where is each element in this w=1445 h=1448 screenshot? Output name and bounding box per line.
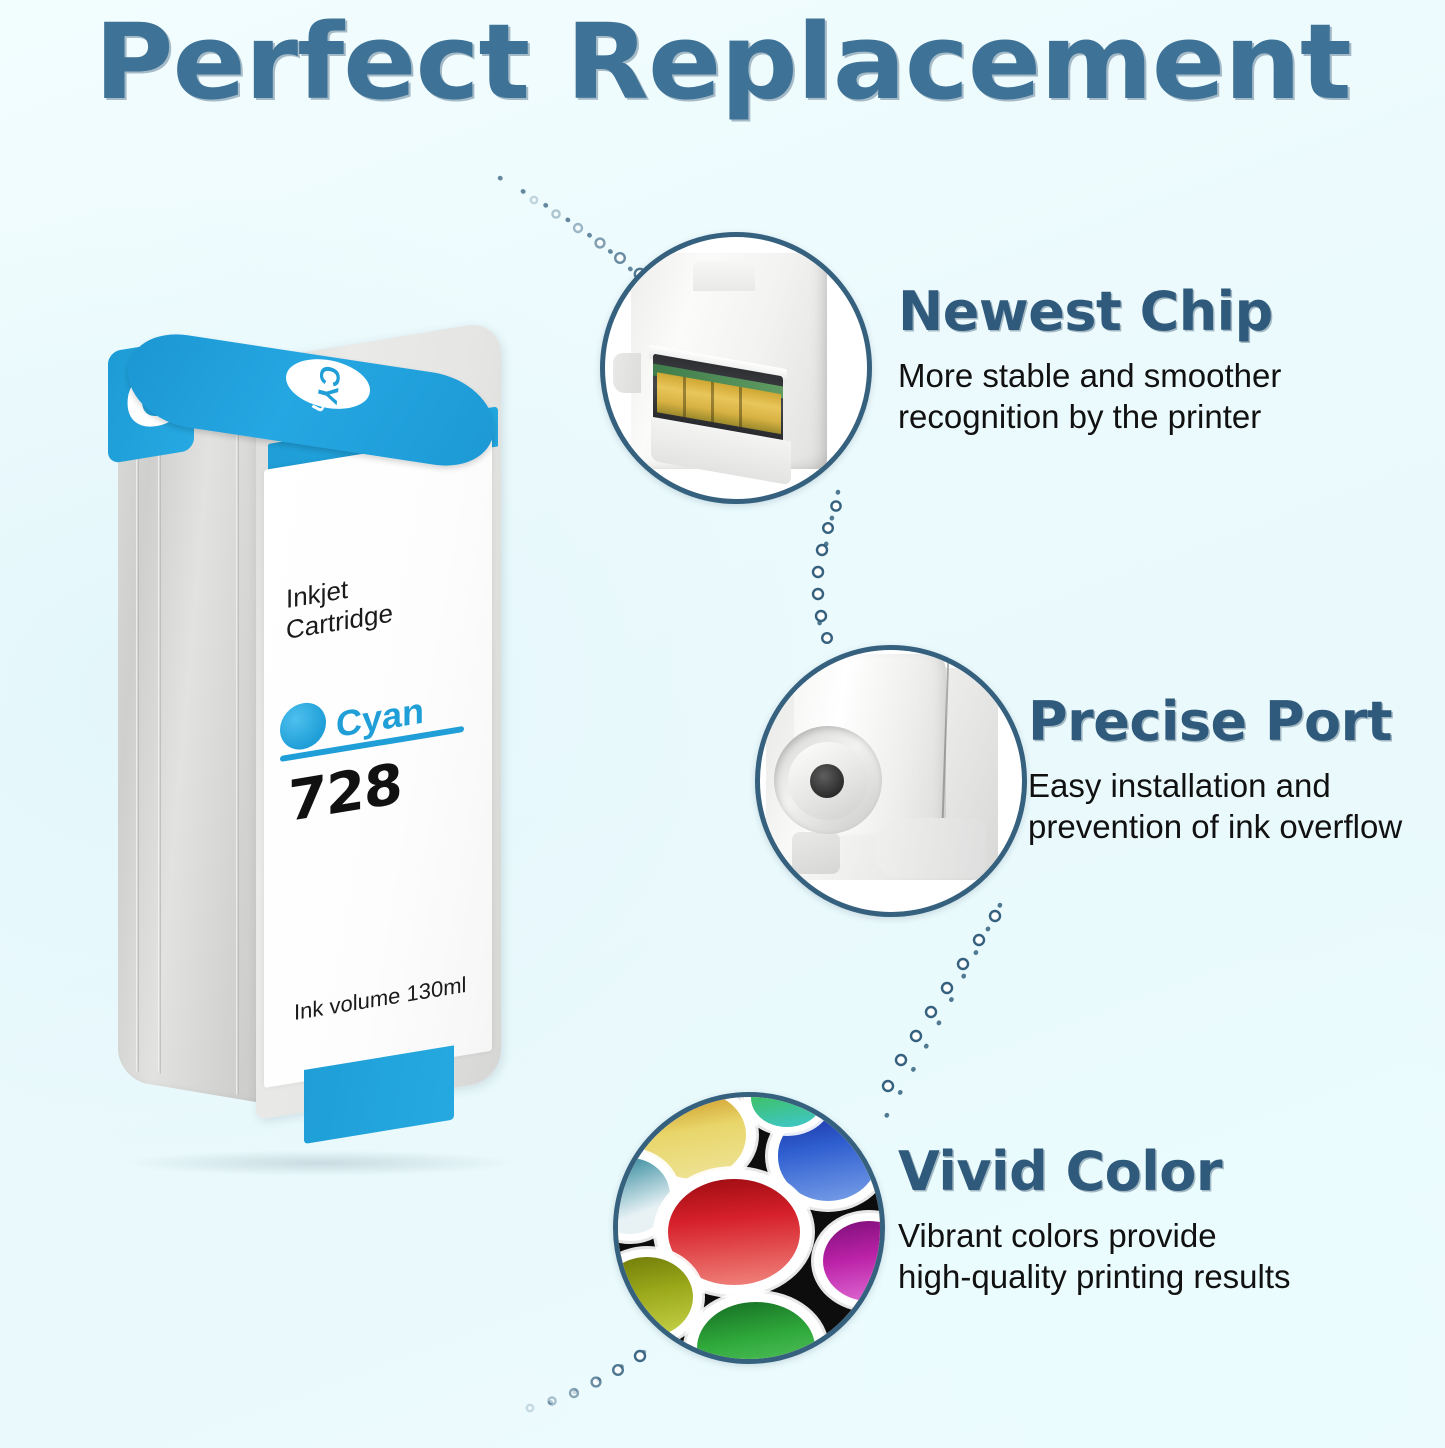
feature-body-precise-port: Easy installation and prevention of ink … [1028,765,1402,848]
cartridge-body-side [118,379,268,1104]
feature-heading-newest-chip: Newest Chip [898,280,1273,343]
feature-body-vivid-color: Vibrant colors provide high-quality prin… [898,1215,1291,1298]
cartridge-cap: Cyan CY [116,352,506,472]
feature-body-line1: Vibrant colors provide [898,1217,1217,1254]
paint-cans-icon [613,1092,885,1364]
infographic-canvas: Perfect Replacement [0,0,1445,1448]
feature-heading-precise-port: Precise Port [1028,690,1392,753]
feature-body-line2: high-quality printing results [898,1258,1291,1295]
feature-body-line2: prevention of ink overflow [1028,808,1402,845]
feature-body-line1: More stable and smoother [898,357,1281,394]
chip-contact-icon [600,232,872,504]
feature-heading-vivid-color: Vivid Color [898,1140,1222,1203]
cap-color-badge-text: CY [310,362,346,407]
feature-body-line1: Easy installation and [1028,767,1331,804]
ink-port-icon [755,645,1027,917]
ink-cartridge-product-image: Inkjet Cartridge C Cyan 728 Ink volume 1… [108,352,528,1172]
page-title: Perfect Replacement [0,4,1445,120]
feature-body-line2: recognition by the printer [898,398,1261,435]
feature-body-newest-chip: More stable and smoother recognition by … [898,355,1281,438]
